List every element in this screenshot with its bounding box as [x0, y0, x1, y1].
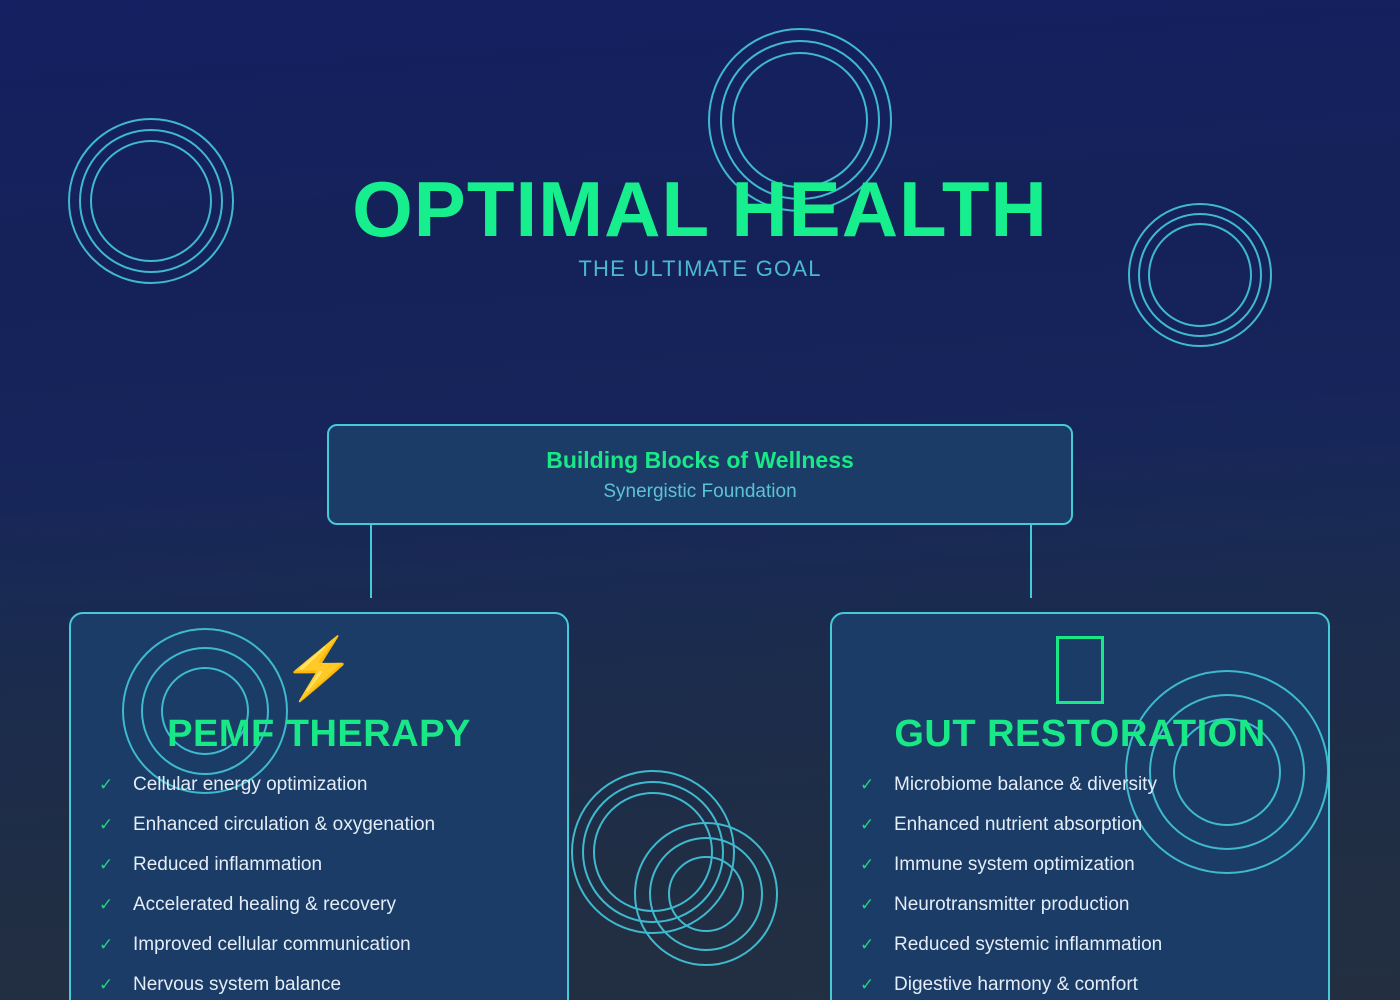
check-icon: ✓	[99, 855, 133, 875]
pillar-title-gut: GUT RESTORATION	[832, 712, 1328, 756]
lightning-bolt-icon: ⚡	[71, 636, 567, 702]
list-item: ✓ Cellular energy optimization	[99, 774, 551, 814]
check-icon: ✓	[860, 815, 894, 835]
benefit-text: Neurotransmitter production	[894, 894, 1130, 916]
check-icon: ✓	[860, 935, 894, 955]
foundation-title: Building Blocks of Wellness	[546, 446, 854, 474]
list-item: ✓ Accelerated healing & recovery	[99, 894, 551, 934]
foundation-subtitle: Synergistic Foundation	[603, 481, 796, 503]
list-item: ✓ Enhanced nutrient absorption	[860, 814, 1312, 854]
list-item: ✓ Nervous system balance	[99, 974, 551, 1000]
list-item: ✓ Reduced inflammation	[99, 854, 551, 894]
benefit-text: Enhanced circulation & oxygenation	[133, 814, 435, 836]
check-icon: ✓	[99, 975, 133, 995]
check-icon: ✓	[99, 815, 133, 835]
benefit-text: Digestive harmony & comfort	[894, 974, 1138, 996]
tofu-box	[1056, 636, 1104, 704]
check-icon: ✓	[99, 895, 133, 915]
check-icon: ✓	[860, 975, 894, 995]
list-item: ✓ Immune system optimization	[860, 854, 1312, 894]
page-title: OPTIMAL HEALTH	[0, 0, 1400, 248]
check-icon: ✓	[99, 935, 133, 955]
benefit-text: Reduced inflammation	[133, 854, 322, 876]
list-item: ✓ Reduced systemic inflammation	[860, 934, 1312, 974]
list-item: ✓ Digestive harmony & comfort	[860, 974, 1312, 1000]
benefit-text: Reduced systemic inflammation	[894, 934, 1162, 956]
check-icon: ✓	[860, 855, 894, 875]
check-icon: ✓	[99, 775, 133, 795]
pillar-title-pemf: PEMF THERAPY	[71, 712, 567, 756]
list-item: ✓ Microbiome balance & diversity	[860, 774, 1312, 814]
benefit-text: Accelerated healing & recovery	[133, 894, 396, 916]
benefit-text: Immune system optimization	[894, 854, 1135, 876]
list-item: ✓ Improved cellular communication	[99, 934, 551, 974]
check-icon: ✓	[860, 775, 894, 795]
benefit-list-gut: ✓ Microbiome balance & diversity ✓ Enhan…	[860, 774, 1312, 1000]
benefit-text: Cellular energy optimization	[133, 774, 367, 796]
benefit-list-pemf: ✓ Cellular energy optimization ✓ Enhance…	[99, 774, 551, 1000]
check-icon: ✓	[860, 895, 894, 915]
connector-line-left	[370, 525, 372, 598]
pillar-card-pemf-therapy: ⚡ PEMF THERAPY ✓ Cellular energy optimiz…	[69, 612, 569, 1000]
foundation-box: Building Blocks of Wellness Synergistic …	[327, 424, 1073, 525]
list-item: ✓ Neurotransmitter production	[860, 894, 1312, 934]
benefit-text: Improved cellular communication	[133, 934, 411, 956]
pillar-card-gut-restoration: GUT RESTORATION ✓ Microbiome balance & d…	[830, 612, 1330, 1000]
infographic-canvas: OPTIMAL HEALTH THE ULTIMATE GOAL Buildin…	[0, 0, 1400, 1000]
missing-glyph-icon	[832, 636, 1328, 704]
list-item: ✓ Enhanced circulation & oxygenation	[99, 814, 551, 854]
benefit-text: Nervous system balance	[133, 974, 341, 996]
benefit-text: Microbiome balance & diversity	[894, 774, 1157, 796]
page-header: OPTIMAL HEALTH THE ULTIMATE GOAL	[0, 0, 1400, 280]
connector-line-right	[1030, 525, 1032, 598]
benefit-text: Enhanced nutrient absorption	[894, 814, 1142, 836]
